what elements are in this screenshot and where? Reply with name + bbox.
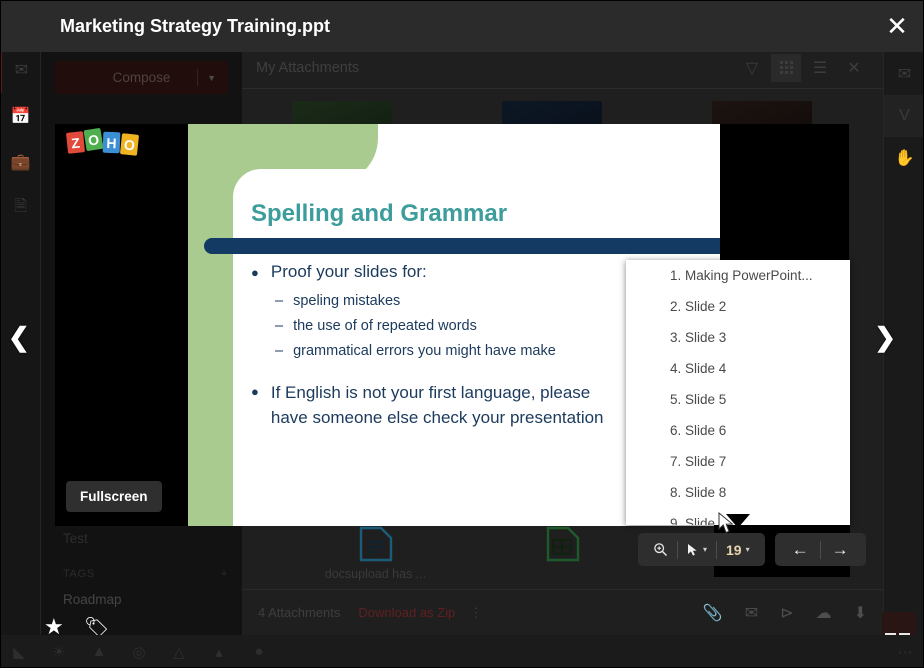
taskbar-app-4[interactable]: ◎: [126, 643, 152, 661]
attachments-header-actions: ▽ ☰ ✕: [737, 54, 869, 82]
sidebar-item-briefcase[interactable]: 💼: [0, 139, 41, 185]
chevron-down-icon[interactable]: ▾: [746, 545, 750, 554]
spreadsheet-file-icon: [546, 526, 580, 562]
taskbar-tray: ⋯: [892, 643, 918, 661]
bullet-text: If English is not your first language, p…: [271, 381, 604, 430]
dash-icon: –: [275, 343, 283, 359]
fullscreen-button[interactable]: Fullscreen: [66, 481, 162, 512]
bullet-line-1: If English is not your first language, p…: [271, 383, 590, 402]
taskbar-app-2[interactable]: ☀: [46, 643, 72, 661]
slide-list-item-5[interactable]: 5. Slide 5: [626, 384, 850, 415]
os-taskbar: ◣ ☀ ▲ ◎ △ ▴ ● ⋯: [0, 635, 924, 668]
attachment-count: 4 Attachments: [258, 605, 340, 620]
more-options-button[interactable]: ⋮: [469, 605, 484, 621]
logo-letter-z: Z: [66, 131, 85, 154]
toolbar-nav-group: ← →: [775, 533, 866, 566]
bullet-text: the use of of repeated words: [293, 318, 477, 334]
slide-list-item-1[interactable]: 1. Making PowerPoint...: [626, 260, 850, 291]
slide-list-item-9[interactable]: 9. Slide 9: [626, 508, 850, 525]
screen: ZOHO MAIL Search in Attachments Upgrade …: [0, 0, 924, 668]
bullet-text: speling mistakes: [293, 293, 400, 309]
tags-label: TAGS: [63, 568, 95, 580]
compose-label: Compose: [113, 70, 171, 85]
slide-title-rule: [204, 238, 720, 254]
viewer-titlebar: Marketing Strategy Training.ppt ✕: [0, 0, 924, 52]
compose-button[interactable]: Compose ▼: [55, 61, 228, 94]
add-tag-button[interactable]: +: [221, 568, 228, 580]
mail-icon[interactable]: ✉: [884, 53, 924, 95]
bullet-dot-icon: ●: [251, 381, 259, 430]
folder-item-test[interactable]: Test: [41, 523, 242, 554]
sidebar-item-mail[interactable]: ✉: [0, 47, 41, 93]
bullet-line-2: have someone else check your presentatio…: [271, 408, 604, 427]
cloud-upload-icon[interactable]: ☁: [816, 603, 832, 623]
slide-list-item-7[interactable]: 7. Slide 7: [626, 446, 850, 477]
filter-icon[interactable]: ▽: [737, 54, 767, 82]
slide-list-dropdown[interactable]: 1. Making PowerPoint... 2. Slide 2 3. Sl…: [626, 260, 850, 525]
taskbar-app-3[interactable]: ▲: [86, 643, 112, 660]
previous-slide-button[interactable]: ←: [781, 540, 820, 560]
list-item-label: docsupload has ...: [325, 567, 426, 581]
toolbar-main-group: ▾ 19 ▾: [638, 533, 765, 566]
share-icon[interactable]: ⊳: [780, 603, 793, 623]
page-title: My Attachments: [256, 60, 359, 76]
attachments-header: My Attachments ▽ ☰ ✕: [242, 47, 883, 89]
taskbar-app-7[interactable]: ●: [246, 643, 272, 660]
attach-list-icon[interactable]: 📎: [703, 603, 723, 623]
logo-letter-o1: O: [83, 128, 103, 151]
slide-list-item-6[interactable]: 6. Slide 6: [626, 415, 850, 446]
previous-attachment-button[interactable]: ❮: [8, 322, 30, 353]
tags-section-header: TAGS +: [41, 554, 242, 584]
tag-item-roadmap[interactable]: Roadmap: [41, 584, 242, 615]
slide-list-item-3[interactable]: 3. Slide 3: [626, 322, 850, 353]
dash-icon: –: [275, 293, 283, 309]
chevron-down-icon[interactable]: ▼: [207, 73, 216, 83]
list-item[interactable]: docsupload has ...: [282, 526, 469, 581]
viewer-file-title: Marketing Strategy Training.ppt: [60, 16, 330, 37]
attachments-footer: 4 Attachments Download as Zip ⋮ 📎 ✉ ⊳ ☁ …: [242, 589, 883, 635]
sidebar-item-notes[interactable]: 🗎: [0, 185, 41, 231]
sidebar-item-calendar[interactable]: 📅: [0, 93, 41, 139]
taskbar-app-6[interactable]: ▴: [206, 643, 232, 661]
bullet-text: Proof your slides for:: [271, 262, 427, 284]
attachment-actions: 📎 ✉ ⊳ ☁ ⬇: [703, 603, 867, 623]
bullet-text: grammatical errors you might have make: [293, 343, 556, 359]
close-icon[interactable]: ✕: [870, 0, 924, 52]
vault-icon[interactable]: V: [884, 95, 924, 137]
slide-title: Spelling and Grammar: [251, 200, 507, 228]
compose-divider: [197, 69, 198, 86]
list-view-icon[interactable]: ☰: [805, 54, 835, 82]
page-number-selector[interactable]: 19 ▾: [717, 542, 759, 558]
slide-list-item-4[interactable]: 4. Slide 4: [626, 353, 850, 384]
email-icon[interactable]: ✉: [745, 603, 758, 623]
taskbar-app-1[interactable]: ◣: [6, 643, 32, 661]
download-icon[interactable]: ⬇: [854, 603, 867, 623]
download-zip-link[interactable]: Download as Zip: [358, 605, 455, 620]
close-icon[interactable]: ✕: [839, 54, 869, 82]
next-attachment-button[interactable]: ❯: [874, 322, 896, 353]
slide-list-item-2[interactable]: 2. Slide 2: [626, 291, 850, 322]
dash-icon: –: [275, 318, 283, 334]
chevron-down-icon[interactable]: ▾: [703, 545, 707, 554]
bullet-dot-icon: ●: [251, 262, 259, 284]
next-slide-button[interactable]: →: [821, 540, 860, 560]
page-number: 19: [726, 542, 742, 558]
list-item[interactable]: [469, 526, 656, 581]
zoho-logo: Z O H O: [67, 132, 138, 155]
doc-file-icon: [359, 526, 393, 562]
viewer-toolbar: ▾ 19 ▾ ← →: [638, 533, 866, 566]
mouse-pointer: [718, 512, 736, 536]
hand-icon[interactable]: ✋: [884, 137, 924, 179]
cursor-tool-icon[interactable]: ▾: [678, 543, 716, 557]
taskbar-app-5[interactable]: △: [166, 643, 192, 661]
tray-icon[interactable]: ⋯: [892, 643, 918, 661]
slide-list-item-8[interactable]: 8. Slide 8: [626, 477, 850, 508]
grid-view-icon[interactable]: [771, 54, 801, 82]
zoom-in-icon[interactable]: [644, 542, 677, 557]
logo-letter-h: H: [103, 132, 121, 154]
logo-letter-o2: O: [120, 133, 139, 156]
